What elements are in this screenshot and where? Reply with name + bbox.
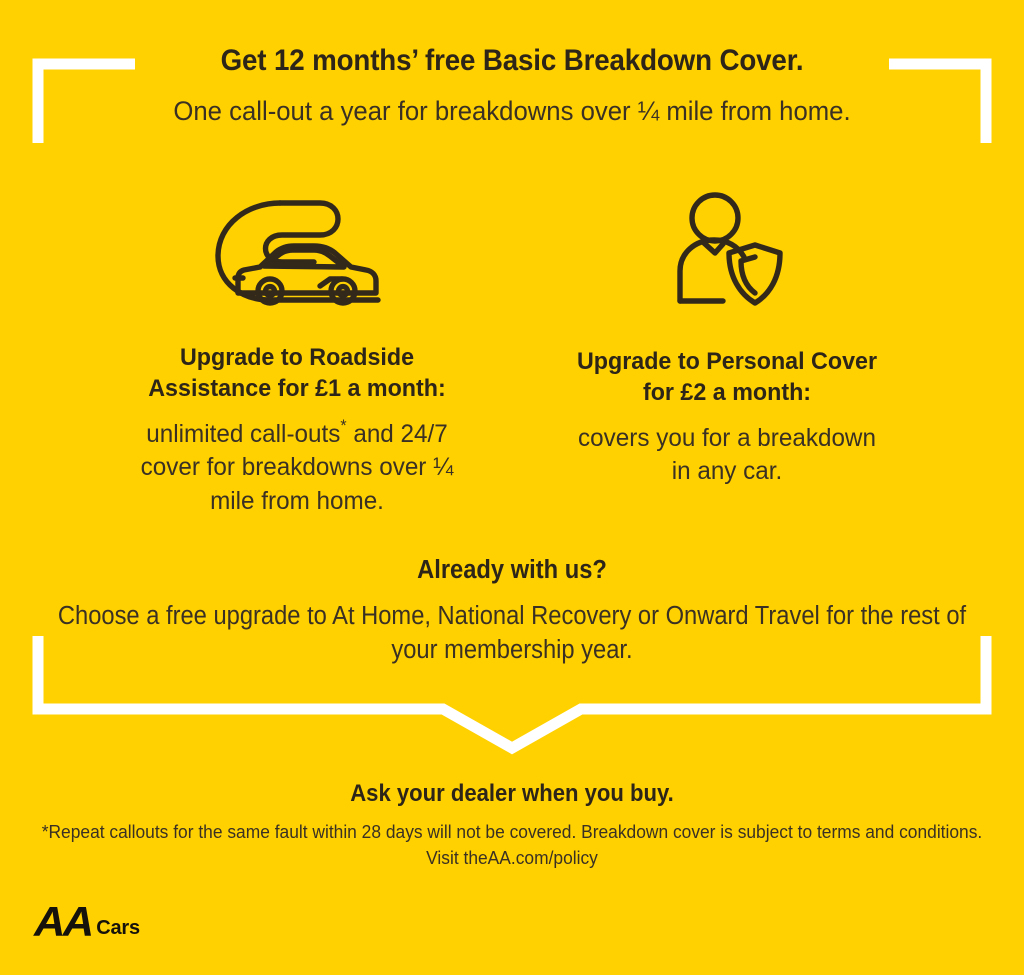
- infographic-canvas: Get 12 months’ free Basic Breakdown Cove…: [0, 0, 1024, 975]
- aa-cars-logo: AA Cars: [34, 905, 140, 940]
- already-member-body: Choose a free upgrade to At Home, Nation…: [36, 600, 988, 668]
- already-member-block: Already with us? Choose a free upgrade t…: [0, 556, 1024, 668]
- already-member-title: Already with us?: [36, 556, 988, 585]
- aa-logo-mark: AA: [34, 904, 91, 940]
- offer-card-roadside: Upgrade to Roadside Assistance for £1 a …: [82, 186, 512, 519]
- disclaimer-text: *Repeat callouts for the same fault with…: [31, 819, 994, 870]
- offer-title-personal: Upgrade to Personal Cover for £2 a month…: [575, 346, 879, 409]
- page-subtitle: One call-out a year for breakdowns over …: [15, 96, 1008, 128]
- aa-logo-wordmark: Cars: [96, 918, 140, 940]
- offer-card-personal: Upgrade to Personal Cover for £2 a month…: [512, 186, 942, 489]
- offer-body-prefix: unlimited call-outs: [146, 420, 340, 448]
- offer-title-roadside: Upgrade to Roadside Assistance for £1 a …: [129, 342, 465, 405]
- offers-row: Upgrade to Roadside Assistance for £1 a …: [0, 186, 1024, 519]
- header-block: Get 12 months’ free Basic Breakdown Cove…: [0, 44, 1024, 128]
- person-with-shield-icon: [567, 186, 887, 318]
- call-to-action-text: Ask your dealer when you buy.: [41, 780, 983, 808]
- page-title: Get 12 months’ free Basic Breakdown Cove…: [31, 44, 994, 79]
- offer-body-personal: covers you for a breakdown in any car.: [572, 422, 882, 490]
- car-on-winding-road-icon: [120, 186, 474, 314]
- footer-block: Ask your dealer when you buy. *Repeat ca…: [0, 780, 1024, 870]
- offer-body-roadside: unlimited call-outs* and 24/7 cover for …: [125, 418, 468, 519]
